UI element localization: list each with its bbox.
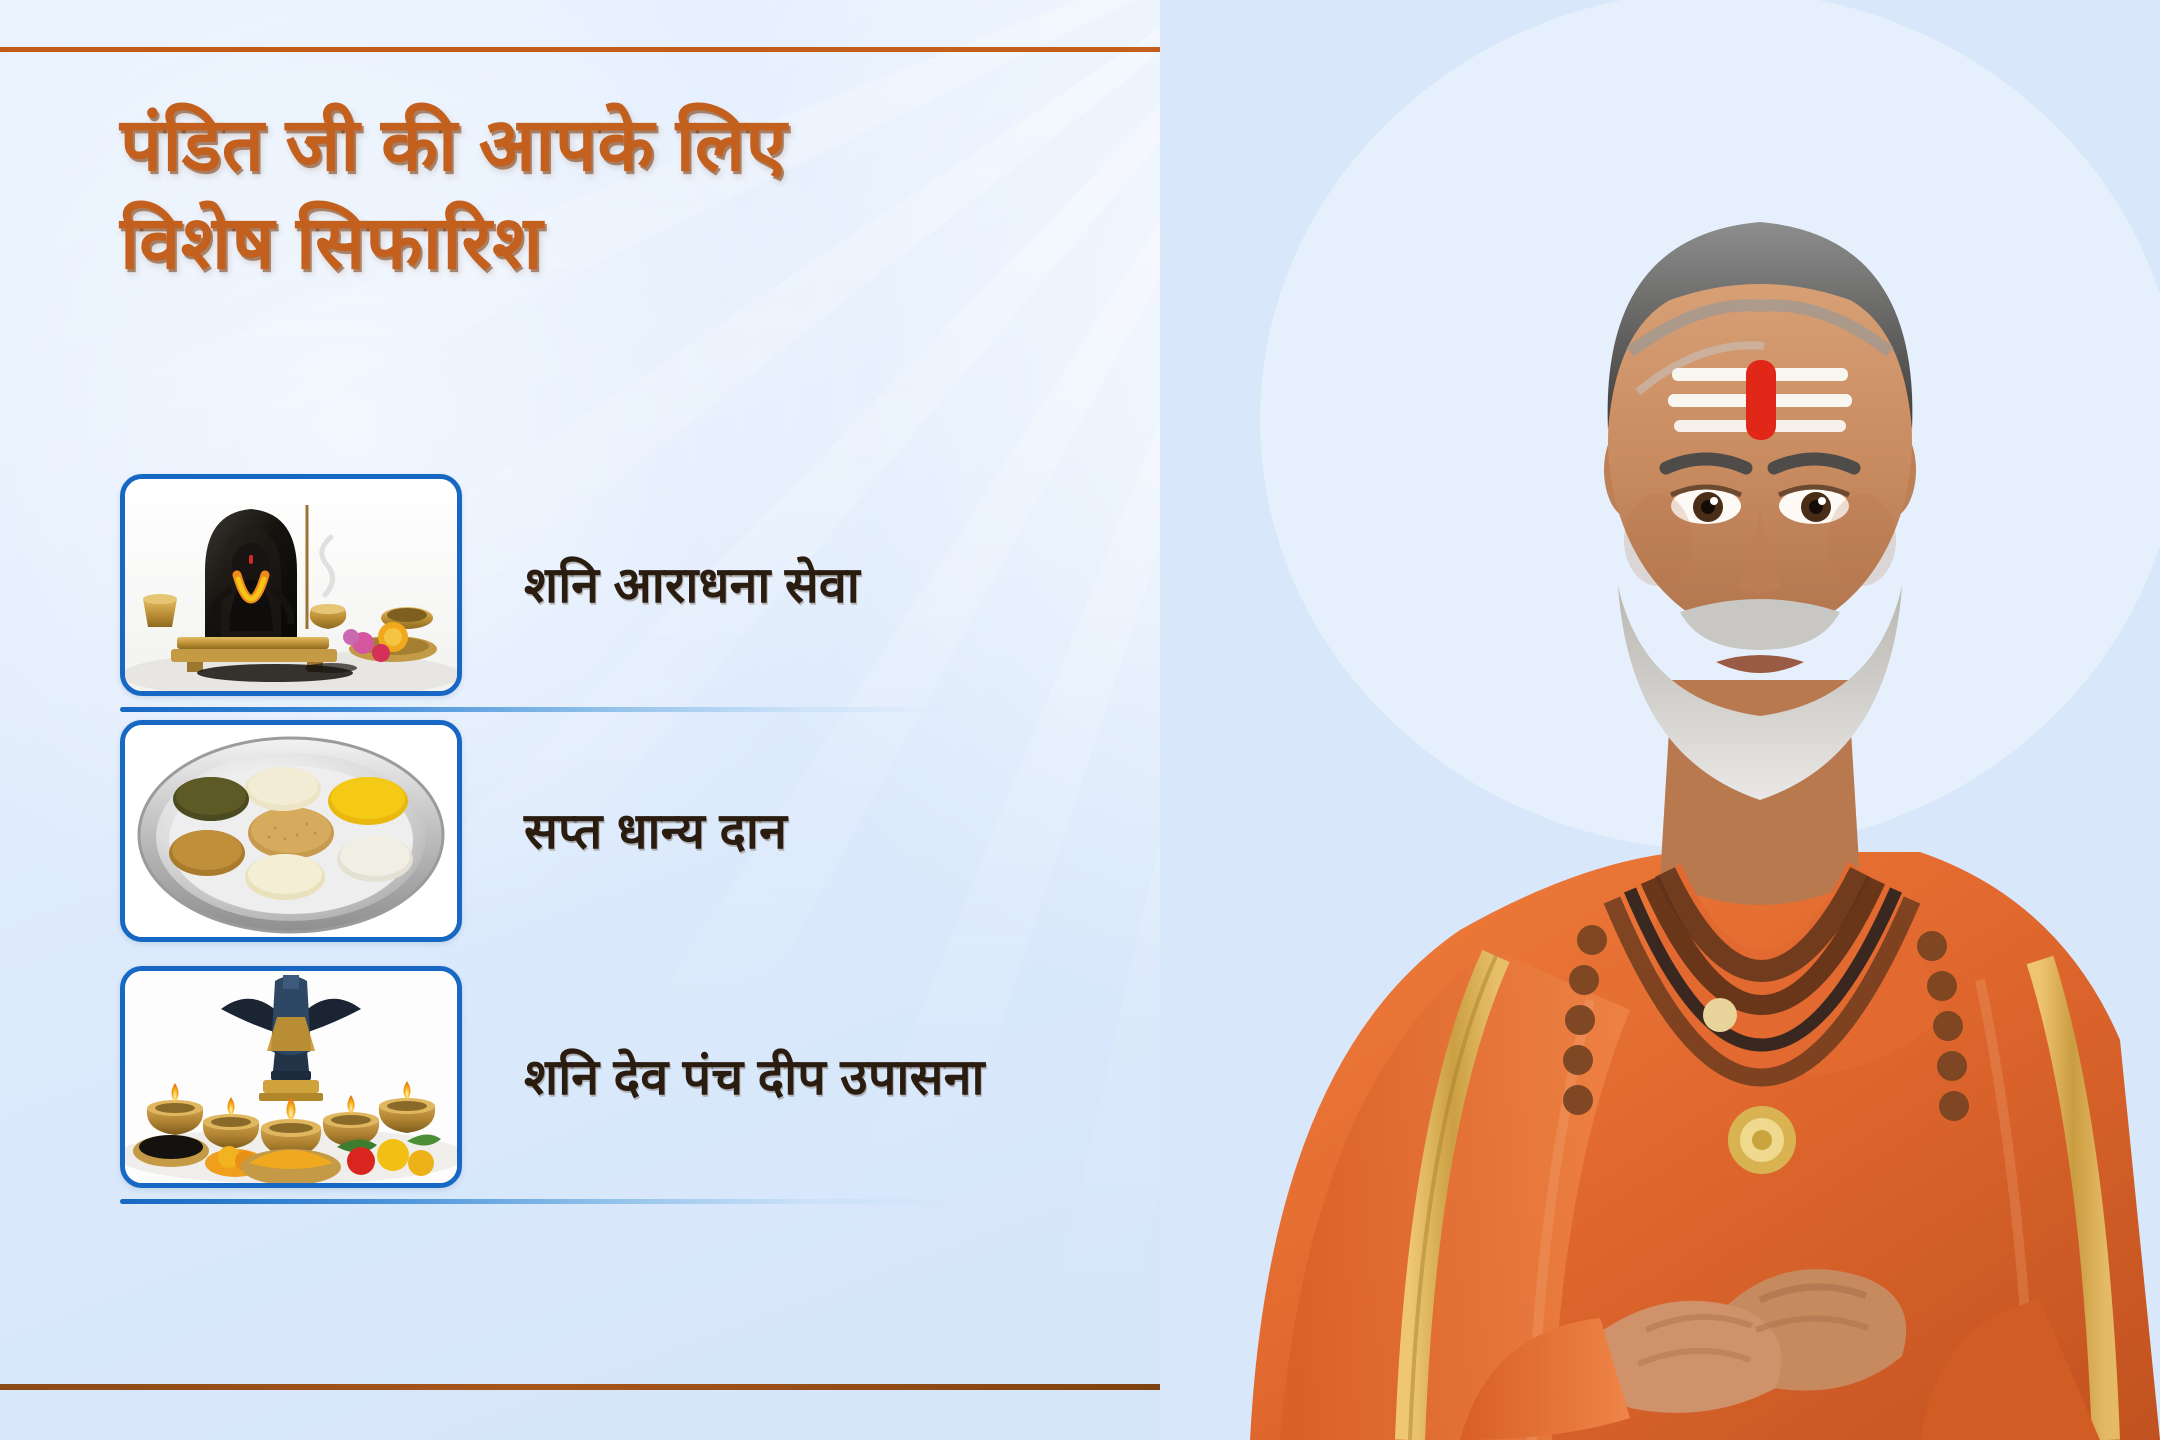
list-item-label: शनि देव पंच दीप उपासना	[524, 1047, 985, 1107]
promo-banner: पंडित जी की आपके लिए विशेष सिफारिश	[0, 0, 2160, 1440]
seven-grains-thali-thumbnail[interactable]	[120, 720, 462, 942]
pandit-portrait	[1160, 0, 2160, 1440]
list-item-label: सप्त धान्य दान	[524, 801, 787, 861]
five-diya-shani-thumbnail[interactable]	[120, 966, 462, 1188]
list-item[interactable]: सप्त धान्य दान	[120, 708, 1120, 954]
heading-line-1: पंडित जी की आपके लिए	[120, 103, 787, 186]
panch-deep-icon	[125, 971, 457, 1183]
list-item[interactable]: शनि देव पंच दीप उपासना	[120, 954, 1120, 1200]
list-item-label: शनि आराधना सेवा	[524, 555, 860, 615]
list-item[interactable]: शनि आराधना सेवा	[120, 462, 1120, 708]
bottom-accent-rule	[0, 1384, 1200, 1390]
page-title: पंडित जी की आपके लिए विशेष सिफारिश	[120, 96, 1200, 291]
pandit-portrait-illustration	[1160, 0, 2160, 1440]
recommendation-list: शनि आराधना सेवा	[120, 462, 1120, 1200]
heading-line-2: विशेष सिफारिश	[120, 194, 1200, 292]
grain-thali-icon	[125, 725, 457, 937]
shani-idol-icon	[125, 479, 457, 691]
shani-idol-puja-thumbnail[interactable]	[120, 474, 462, 696]
